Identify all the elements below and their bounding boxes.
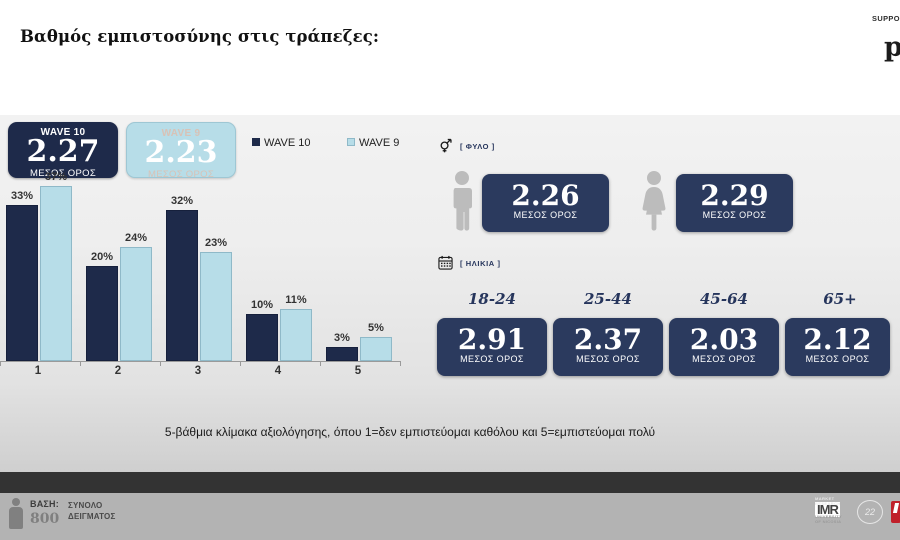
legend-item-wave10: WAVE 10 <box>252 137 310 149</box>
age-group-label-25-44: 25-44 <box>553 290 663 308</box>
chart-x-axis <box>0 361 400 362</box>
base-value: 800 <box>30 511 59 527</box>
x-axis-label-3: 3 <box>195 365 201 377</box>
age-group-sub-18-24: ΜΕΣΟΣ ΟΡΟΣ <box>437 354 547 364</box>
bar-fill <box>360 337 392 361</box>
age-group-value-65-plus: 2.12 <box>785 325 890 355</box>
x-axis-tick <box>400 361 401 366</box>
bar-wave-9-1: 37% <box>40 186 72 361</box>
x-axis-label-4: 4 <box>275 365 281 377</box>
age-group-value-25-44: 2.37 <box>553 325 663 355</box>
bar-wave-10-5: 3% <box>326 347 358 361</box>
base-description-line2: ΔΕΙΓΜΑΤΟΣ <box>68 512 115 521</box>
bar-wave-9-3: 23% <box>200 252 232 361</box>
bar-value-label: 3% <box>334 332 350 344</box>
sample-base-block: ΒΑΣΗ: 800 ΣΥΝΟΛΟ ΔΕΙΓΜΑΤΟΣ <box>8 497 268 533</box>
bar-group-3: 32%23% <box>166 171 230 361</box>
gender-section-header: [ ΦΥΛΟ ] <box>438 139 495 154</box>
age-section-label: [ ΗΛΙΚΙΑ ] <box>460 259 501 268</box>
bar-fill <box>40 186 72 361</box>
bar-value-label: 10% <box>251 299 273 311</box>
bar-fill <box>6 205 38 361</box>
age-group-card-25-44: 2.37 ΜΕΣΟΣ ΟΡΟΣ <box>553 318 663 376</box>
bar-wave-10-2: 20% <box>86 266 118 361</box>
gender-male-average-card: 2.26 ΜΕΣΟΣ ΟΡΟΣ <box>482 174 609 232</box>
bar-fill <box>326 347 358 361</box>
person-icon <box>8 498 24 530</box>
female-silhouette-icon <box>640 170 668 232</box>
gender-section-label: [ ΦΥΛΟ ] <box>460 142 495 151</box>
bar-value-label: 11% <box>285 294 306 306</box>
bar-wave-9-5: 5% <box>360 337 392 361</box>
pwc-logo: SUPPORTED BY pwc <box>872 10 900 66</box>
bar-wave-10-3: 32% <box>166 210 198 361</box>
gender-female-sub: ΜΕΣΟΣ ΟΡΟΣ <box>676 210 793 220</box>
legend-label-wave10: WAVE 10 <box>264 137 310 149</box>
bar-value-label: 20% <box>91 251 113 263</box>
legend-label-wave9: WAVE 9 <box>359 137 399 149</box>
base-description: ΣΥΝΟΛΟ ΔΕΙΓΜΑΤΟΣ <box>68 500 115 522</box>
legend-swatch-icon <box>252 138 260 146</box>
gender-symbol-icon <box>438 138 453 153</box>
age-group-card-18-24: 2.91 ΜΕΣΟΣ ΟΡΟΣ <box>437 318 547 376</box>
pwc-wordmark: pwc <box>884 32 900 63</box>
age-group-sub-25-44: ΜΕΣΟΣ ΟΡΟΣ <box>553 354 663 364</box>
age-group-label-65-plus: 65+ <box>785 290 895 308</box>
age-group-value-45-64: 2.03 <box>669 325 779 355</box>
gender-female-average-card: 2.29 ΜΕΣΟΣ ΟΡΟΣ <box>676 174 793 232</box>
bar-group-4: 10%11% <box>246 171 310 361</box>
gender-female-value: 2.29 <box>676 181 793 211</box>
scale-footnote: 5-βάθμια κλίμακα αξιολόγησης, όπου 1=δεν… <box>0 425 820 439</box>
bar-wave-10-4: 10% <box>246 314 278 361</box>
page-header: Βαθμός εμπιστοσύνης στις τράπεζες: SUPPO… <box>0 0 900 115</box>
x-axis-label-2: 2 <box>115 365 121 377</box>
bar-value-label: 24% <box>125 232 147 244</box>
wave9-card-value: 2.23 <box>127 138 235 168</box>
age-group-sub-65-plus: ΜΕΣΟΣ ΟΡΟΣ <box>785 354 890 364</box>
calendar-icon <box>438 255 453 270</box>
age-group-value-18-24: 2.91 <box>437 325 547 355</box>
bar-value-label: 23% <box>205 237 227 249</box>
gender-male-sub: ΜΕΣΟΣ ΟΡΟΣ <box>482 210 609 220</box>
chart-plot-area: 33%37%20%24%32%23%10%11%3%5% <box>0 165 400 362</box>
bar-value-label: 5% <box>368 322 384 334</box>
bar-wave-9-2: 24% <box>120 247 152 361</box>
wave10-card-value: 2.27 <box>8 137 118 167</box>
supported-by-label: SUPPORTED BY <box>872 14 900 23</box>
base-description-line1: ΣΥΝΟΛΟ <box>68 501 102 510</box>
x-axis-label-1: 1 <box>35 365 41 377</box>
gender-male-value: 2.26 <box>482 181 609 211</box>
bar-value-label: 32% <box>171 195 193 207</box>
age-group-sub-45-64: ΜΕΣΟΣ ΟΡΟΣ <box>669 354 779 364</box>
imr-bottom-text: UNIVERSITY OF NICOSIA <box>815 514 842 524</box>
male-silhouette-icon <box>450 170 474 232</box>
age-group-label-45-64: 45-64 <box>669 290 779 308</box>
bar-group-2: 20%24% <box>86 171 150 361</box>
bar-group-1: 33%37% <box>6 171 70 361</box>
x-axis-label-5: 5 <box>355 365 361 377</box>
bar-value-label: 37% <box>45 171 67 183</box>
base-label: ΒΑΣΗ: <box>30 499 59 509</box>
imr-top-text: MARKET RESEARCH <box>815 496 841 506</box>
bar-fill <box>200 252 232 361</box>
university-of-nicosia-mark-icon <box>891 501 900 523</box>
bar-group-5: 3%5% <box>326 171 390 361</box>
bar-fill <box>246 314 278 361</box>
chart-x-tick-labels: 12345 <box>0 365 400 385</box>
bar-wave-10-1: 33% <box>6 205 38 361</box>
age-group-label-18-24: 18-24 <box>437 290 547 308</box>
bar-fill <box>86 266 118 361</box>
bar-fill <box>166 210 198 361</box>
footer-dark-band <box>0 472 900 493</box>
bar-wave-9-4: 11% <box>280 309 312 361</box>
bar-value-label: 33% <box>11 190 33 202</box>
anniversary-badge-icon: 22 <box>857 500 883 524</box>
trust-bar-chart: 33%37%20%24%32%23%10%11%3%5% 12345 <box>0 165 408 385</box>
legend-item-wave9: WAVE 9 <box>347 137 399 149</box>
page-title: Βαθμός εμπιστοσύνης στις τράπεζες: <box>20 27 379 46</box>
bar-fill <box>120 247 152 361</box>
legend-swatch-icon <box>347 138 355 146</box>
bar-fill <box>280 309 312 361</box>
age-section-header: [ ΗΛΙΚΙΑ ] <box>438 256 501 271</box>
imr-logo: MARKET RESEARCH IMR UNIVERSITY OF NICOSI… <box>815 502 840 517</box>
age-group-card-45-64: 2.03 ΜΕΣΟΣ ΟΡΟΣ <box>669 318 779 376</box>
age-group-card-65-plus: 2.12 ΜΕΣΟΣ ΟΡΟΣ <box>785 318 890 376</box>
